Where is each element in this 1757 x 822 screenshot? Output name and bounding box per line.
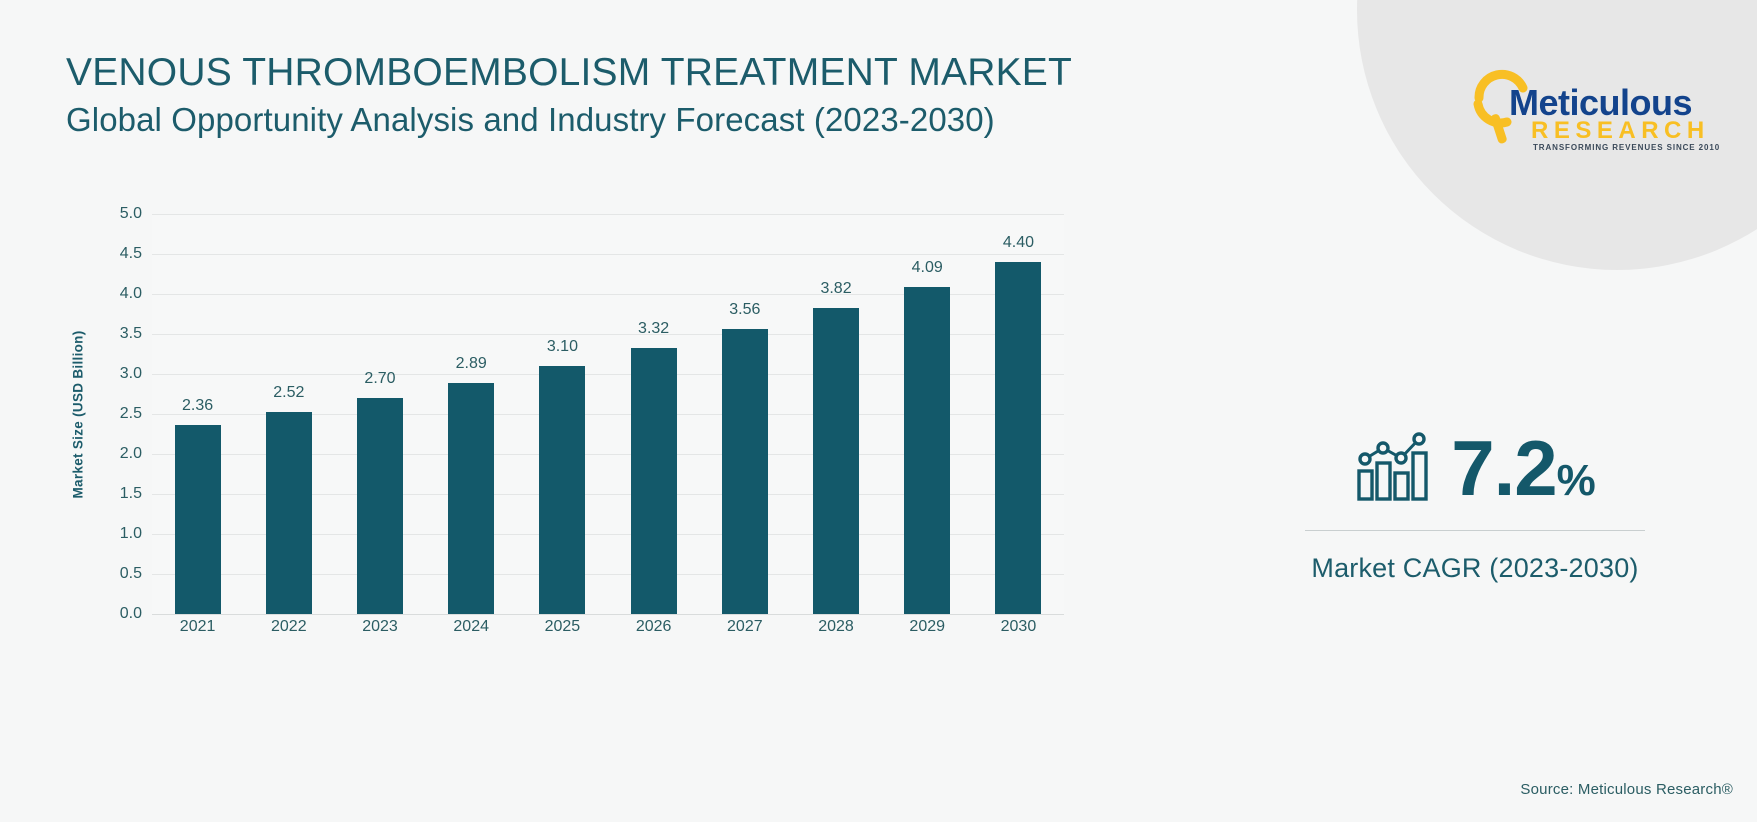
svg-text:TRANSFORMING REVENUES SINCE 20: TRANSFORMING REVENUES SINCE 2010 [1533,143,1720,152]
cagr-percent-sign: % [1557,456,1595,505]
x-tick-label: 2021 [152,618,243,636]
bar-value-label: 2.89 [456,355,487,373]
y-tick-label: 1.0 [120,525,142,543]
bar-slot: 3.82 [790,214,881,614]
bar-slot: 2.70 [334,214,425,614]
plot-outer: 0.00.51.01.52.02.53.03.54.04.55.0 2.362.… [94,214,1076,674]
y-tick-label: 1.5 [120,485,142,503]
bar [904,287,950,614]
x-tick-label: 2026 [608,618,699,636]
bar [722,329,768,614]
bar-value-label: 3.32 [638,320,669,338]
bar [448,383,494,614]
header: VENOUS THROMBOEMBOLISM TREATMENT MARKET … [66,52,1126,139]
cagr-panel: 7.2% Market CAGR (2023-2030) [1285,420,1665,584]
bar-slot: 4.09 [882,214,973,614]
x-tick-label: 2025 [517,618,608,636]
bar-value-label: 3.82 [820,280,851,298]
y-tick-label: 5.0 [120,205,142,223]
bar [631,348,677,614]
bar [813,308,859,614]
bar [995,262,1041,614]
y-tick-label: 4.5 [120,245,142,263]
x-tick-label: 2023 [334,618,425,636]
svg-text:RESEARCH: RESEARCH [1531,117,1710,144]
bar-slot: 2.36 [152,214,243,614]
y-axis-title-label: Market Size (USD Billion) [71,330,86,498]
bar-slot: 2.89 [426,214,517,614]
bar-slot: 2.52 [243,214,334,614]
x-tick-label: 2030 [973,618,1064,636]
bar-slot: 4.40 [973,214,1064,614]
x-axis-labels: 2021202220232024202520262027202820292030 [152,618,1064,636]
y-axis-ticks: 0.00.51.01.52.02.53.03.54.04.55.0 [94,214,142,614]
bar-line-chart-icon [1355,431,1433,505]
bar-value-label: 4.09 [912,259,943,277]
cagr-divider [1305,530,1645,531]
bar [539,366,585,614]
page-title: VENOUS THROMBOEMBOLISM TREATMENT MARKET [66,52,1126,94]
bar [357,398,403,614]
x-tick-label: 2028 [790,618,881,636]
bar-series: 2.362.522.702.893.103.323.563.824.094.40 [152,214,1064,614]
y-axis-title: Market Size (USD Billion) [66,214,90,614]
cagr-caption: Market CAGR (2023-2030) [1285,553,1665,584]
x-tick-label: 2027 [699,618,790,636]
y-tick-label: 2.5 [120,405,142,423]
plot-area: 2.362.522.702.893.103.323.563.824.094.40 [152,214,1064,614]
y-tick-label: 0.5 [120,565,142,583]
bar-slot: 3.10 [517,214,608,614]
bar-value-label: 2.36 [182,397,213,415]
bar-slot: 3.56 [699,214,790,614]
cagr-value: 7.2% [1451,429,1595,507]
bar [266,412,312,614]
cagr-number-text: 7.2 [1451,424,1556,512]
y-tick-label: 4.0 [120,285,142,303]
y-tick-label: 3.0 [120,365,142,383]
bar [175,425,221,614]
x-tick-label: 2029 [882,618,973,636]
infographic-root: Meticulous RESEARCH TRANSFORMING REVENUE… [0,0,1757,822]
bar-value-label: 2.70 [364,370,395,388]
cagr-row: 7.2% [1285,420,1665,516]
bar-value-label: 3.56 [729,301,760,319]
y-tick-label: 2.0 [120,445,142,463]
bar-chart: Market Size (USD Billion) 0.00.51.01.52.… [66,214,1076,674]
y-tick-label: 3.5 [120,325,142,343]
source-note: Source: Meticulous Research® [1520,781,1733,798]
bar-value-label: 3.10 [547,338,578,356]
bar-value-label: 4.40 [1003,234,1034,252]
gridline [152,614,1064,615]
x-tick-label: 2024 [426,618,517,636]
y-tick-label: 0.0 [120,605,142,623]
meticulous-research-logo: Meticulous RESEARCH TRANSFORMING REVENUE… [1465,62,1735,154]
bar-value-label: 2.52 [273,384,304,402]
x-tick-label: 2022 [243,618,334,636]
page-subtitle: Global Opportunity Analysis and Industry… [66,102,1126,139]
bar-slot: 3.32 [608,214,699,614]
